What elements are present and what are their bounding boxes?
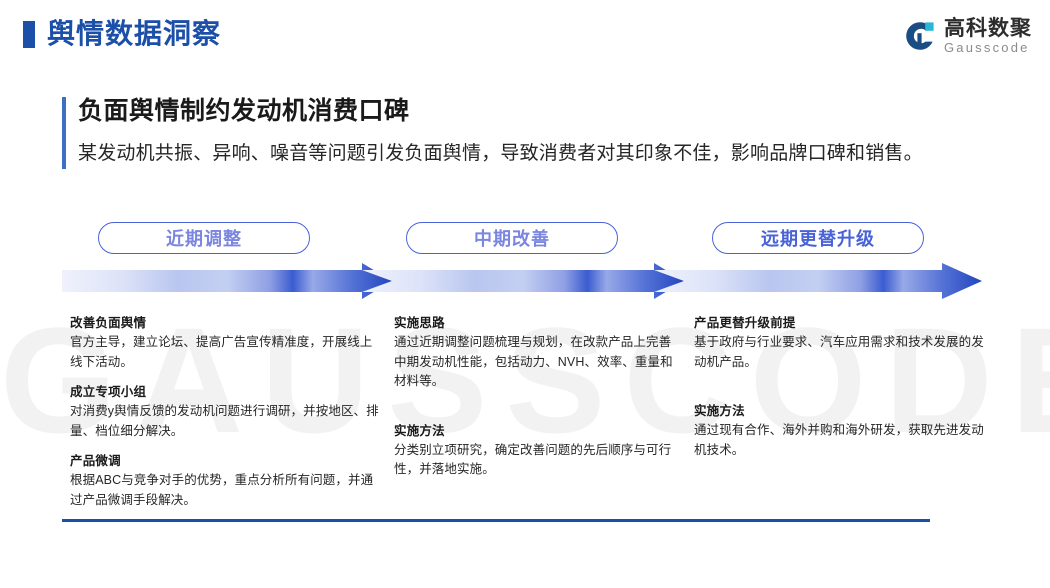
stage-pill-long-term[interactable]: 远期更替升级: [712, 222, 924, 254]
block-title: 产品更替升级前提: [694, 314, 984, 333]
block-body: 官方主导，建立论坛、提高广告宣传精准度，开展线上线下活动。: [70, 333, 382, 372]
logo-name-cn: 高科数聚: [944, 17, 1032, 40]
block-title: 产品微调: [70, 452, 382, 471]
column-long-term: 产品更替升级前提 基于政府与行业要求、汽车应用需求和技术发展的发动机产品。 实施…: [694, 314, 984, 460]
stage-pill-mid-term[interactable]: 中期改善: [406, 222, 618, 254]
block-title: 实施方法: [394, 422, 676, 441]
block-body: 根据ABC与竞争对手的优势，重点分析所有问题，并通过产品微调手段解决。: [70, 471, 382, 510]
footer-divider: [62, 519, 930, 522]
column-near-term: 改善负面舆情 官方主导，建立论坛、提高广告宣传精准度，开展线上线下活动。 成立专…: [70, 314, 382, 510]
main-heading: 负面舆情制约发动机消费口碑: [78, 93, 1012, 129]
block-body: 分类别立项研究，确定改善问题的先后顺序与可行性，并落地实施。: [394, 441, 676, 480]
detail-block: 实施方法 分类别立项研究，确定改善问题的先后顺序与可行性，并落地实施。: [394, 422, 676, 480]
header-bullet-icon: [23, 21, 35, 48]
block-title: 成立专项小组: [70, 383, 382, 402]
stage-pill-near-term[interactable]: 近期调整: [98, 222, 310, 254]
column-mid-term: 实施思路 通过近期调整问题梳理与规划，在改款产品上完善中期发动机性能，包括动力、…: [394, 314, 676, 480]
stage-pill-row: 近期调整 中期改善 远期更替升级: [0, 222, 1050, 258]
detail-block: 产品微调 根据ABC与竞争对手的优势，重点分析所有问题，并通过产品微调手段解决。: [70, 452, 382, 510]
block-body: 通过现有合作、海外并购和海外研发，获取先进发动机技术。: [694, 421, 984, 460]
logo-name-en: Gausscode: [944, 40, 1032, 55]
timeline-arrow: [62, 263, 982, 303]
sub-heading: 某发动机共振、异响、噪音等问题引发负面舆情，导致消费者对其印象不佳，影响品牌口碑…: [78, 140, 1012, 167]
block-title: 实施思路: [394, 314, 676, 333]
block-title: 实施方法: [694, 402, 984, 421]
title-section: 负面舆情制约发动机消费口碑 某发动机共振、异响、噪音等问题引发负面舆情，导致消费…: [62, 93, 1012, 167]
block-title: 改善负面舆情: [70, 314, 382, 333]
block-body: 通过近期调整问题梳理与规划，在改款产品上完善中期发动机性能，包括动力、NVH、效…: [394, 333, 676, 392]
page-header: 舆情数据洞察: [0, 0, 1050, 68]
stage-detail-columns: 改善负面舆情 官方主导，建立论坛、提高广告宣传精准度，开展线上线下活动。 成立专…: [0, 314, 1050, 504]
detail-block: 改善负面舆情 官方主导，建立论坛、提高广告宣传精准度，开展线上线下活动。: [70, 314, 382, 372]
title-accent-bar: [62, 97, 66, 169]
detail-block: 产品更替升级前提 基于政府与行业要求、汽车应用需求和技术发展的发动机产品。: [694, 314, 984, 372]
gausscode-logo-icon: [903, 19, 937, 53]
detail-block: 实施方法 通过现有合作、海外并购和海外研发，获取先进发动机技术。: [694, 402, 984, 460]
detail-block: 成立专项小组 对消费y舆情反馈的发动机问题进行调研，并按地区、排量、档位细分解决…: [70, 383, 382, 441]
page-title: 舆情数据洞察: [47, 15, 221, 53]
block-body: 对消费y舆情反馈的发动机问题进行调研，并按地区、排量、档位细分解决。: [70, 402, 382, 441]
brand-logo: 高科数聚 Gausscode: [903, 14, 1032, 58]
detail-block: 实施思路 通过近期调整问题梳理与规划，在改款产品上完善中期发动机性能，包括动力、…: [394, 314, 676, 392]
block-body: 基于政府与行业要求、汽车应用需求和技术发展的发动机产品。: [694, 333, 984, 372]
